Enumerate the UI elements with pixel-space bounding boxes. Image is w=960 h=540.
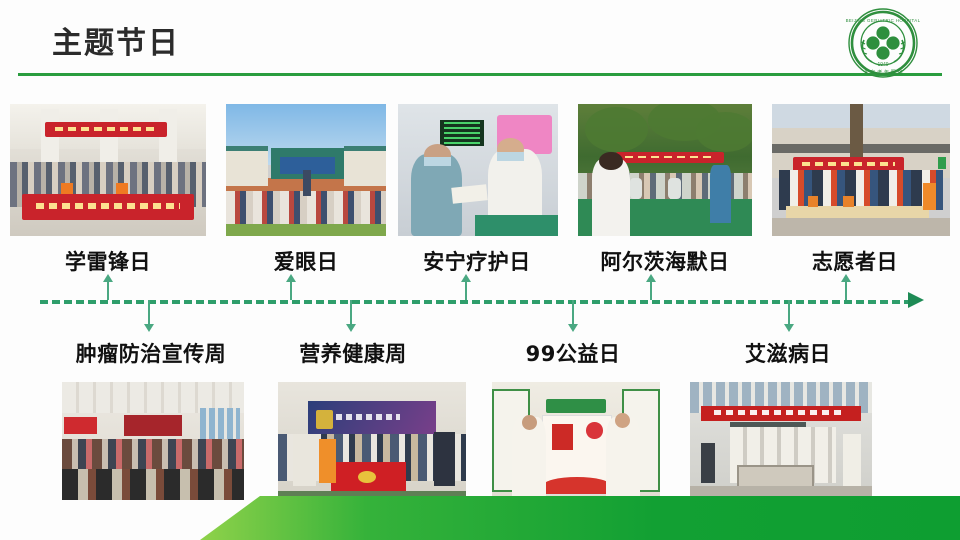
event-photo-aiyanri[interactable] [226,104,386,236]
footer-bar-shape [200,496,960,540]
svg-text:北 京 老 年 医 院: 北 京 老 年 医 院 [863,68,903,76]
photo-leaflet-handout-public-hall [398,104,558,236]
photo-two-nurses-poster-board [492,382,660,500]
timeline-tick-down-0 [148,300,150,324]
event-photo-99gongyiri[interactable] [492,382,660,500]
event-label-top-2: 安宁疗护日 [384,246,570,276]
event-photo-xueleifengri[interactable] [10,104,206,236]
event-label-bottom-2: 99公益日 [480,338,666,368]
timeline-tick-up-2 [465,282,467,300]
timeline-arrow-icon [908,292,924,308]
timeline-tick-up-3 [650,282,652,300]
photo-outdoor-school-stage-assembly [226,104,386,236]
event-photo-zhongliufangzhi[interactable] [62,382,244,500]
slide-header: 主题节日 [0,0,960,82]
event-photo-aizibingri[interactable] [690,382,872,500]
photo-volunteer-group-red-banner-lobby [10,104,206,236]
event-label-top-1: 爱眼日 [208,246,404,276]
footer-decorative-bar [0,496,960,540]
event-photo-aerciHaimori[interactable] [578,104,752,236]
photo-students-party-flag-group-photo [278,382,466,500]
event-label-top-3: 阿尔茨海默日 [570,246,760,276]
event-label-bottom-1: 营养健康周 [258,338,448,368]
slide-root: 主题节日 BEIJING GERIATRIC HOSPITAL 1949 北 [0,0,960,540]
event-label-top-0: 学雷锋日 [8,246,208,276]
timeline-tick-down-1 [350,300,352,324]
photo-hospital-lobby-staff-red-banner [690,382,872,500]
hospital-logo-icon: BEIJING GERIATRIC HOSPITAL 1949 北 京 老 年 … [846,6,920,80]
timeline-tick-up-1 [290,282,292,300]
event-label-top-4: 志愿者日 [760,246,950,276]
logo-outer-text: BEIJING GERIATRIC HOSPITAL [846,18,920,23]
event-photo-zhiyuanzheri[interactable] [772,104,950,236]
photo-outdoor-volunteer-booth-banner [772,104,950,236]
logo-year-text: 1949 [877,62,888,68]
photo-outdoor-courtyard-elderly-event [578,104,752,236]
timeline [0,282,960,322]
timeline-tick-up-4 [845,282,847,300]
photo-lecture-hall-audience-red-banner [62,382,244,500]
page-title: 主题节日 [52,18,180,62]
timeline-dashed-line [40,300,912,304]
timeline-tick-down-2 [572,300,574,324]
timeline-tick-up-0 [107,282,109,300]
timeline-tick-down-3 [788,300,790,324]
title-underline-rule [18,73,942,76]
event-label-bottom-3: 艾滋病日 [690,338,886,368]
event-photo-yingyangjiankangzhou[interactable] [278,382,466,500]
event-label-bottom-0: 肿瘤防治宣传周 [46,338,256,368]
event-photo-anningliaohuri[interactable] [398,104,558,236]
